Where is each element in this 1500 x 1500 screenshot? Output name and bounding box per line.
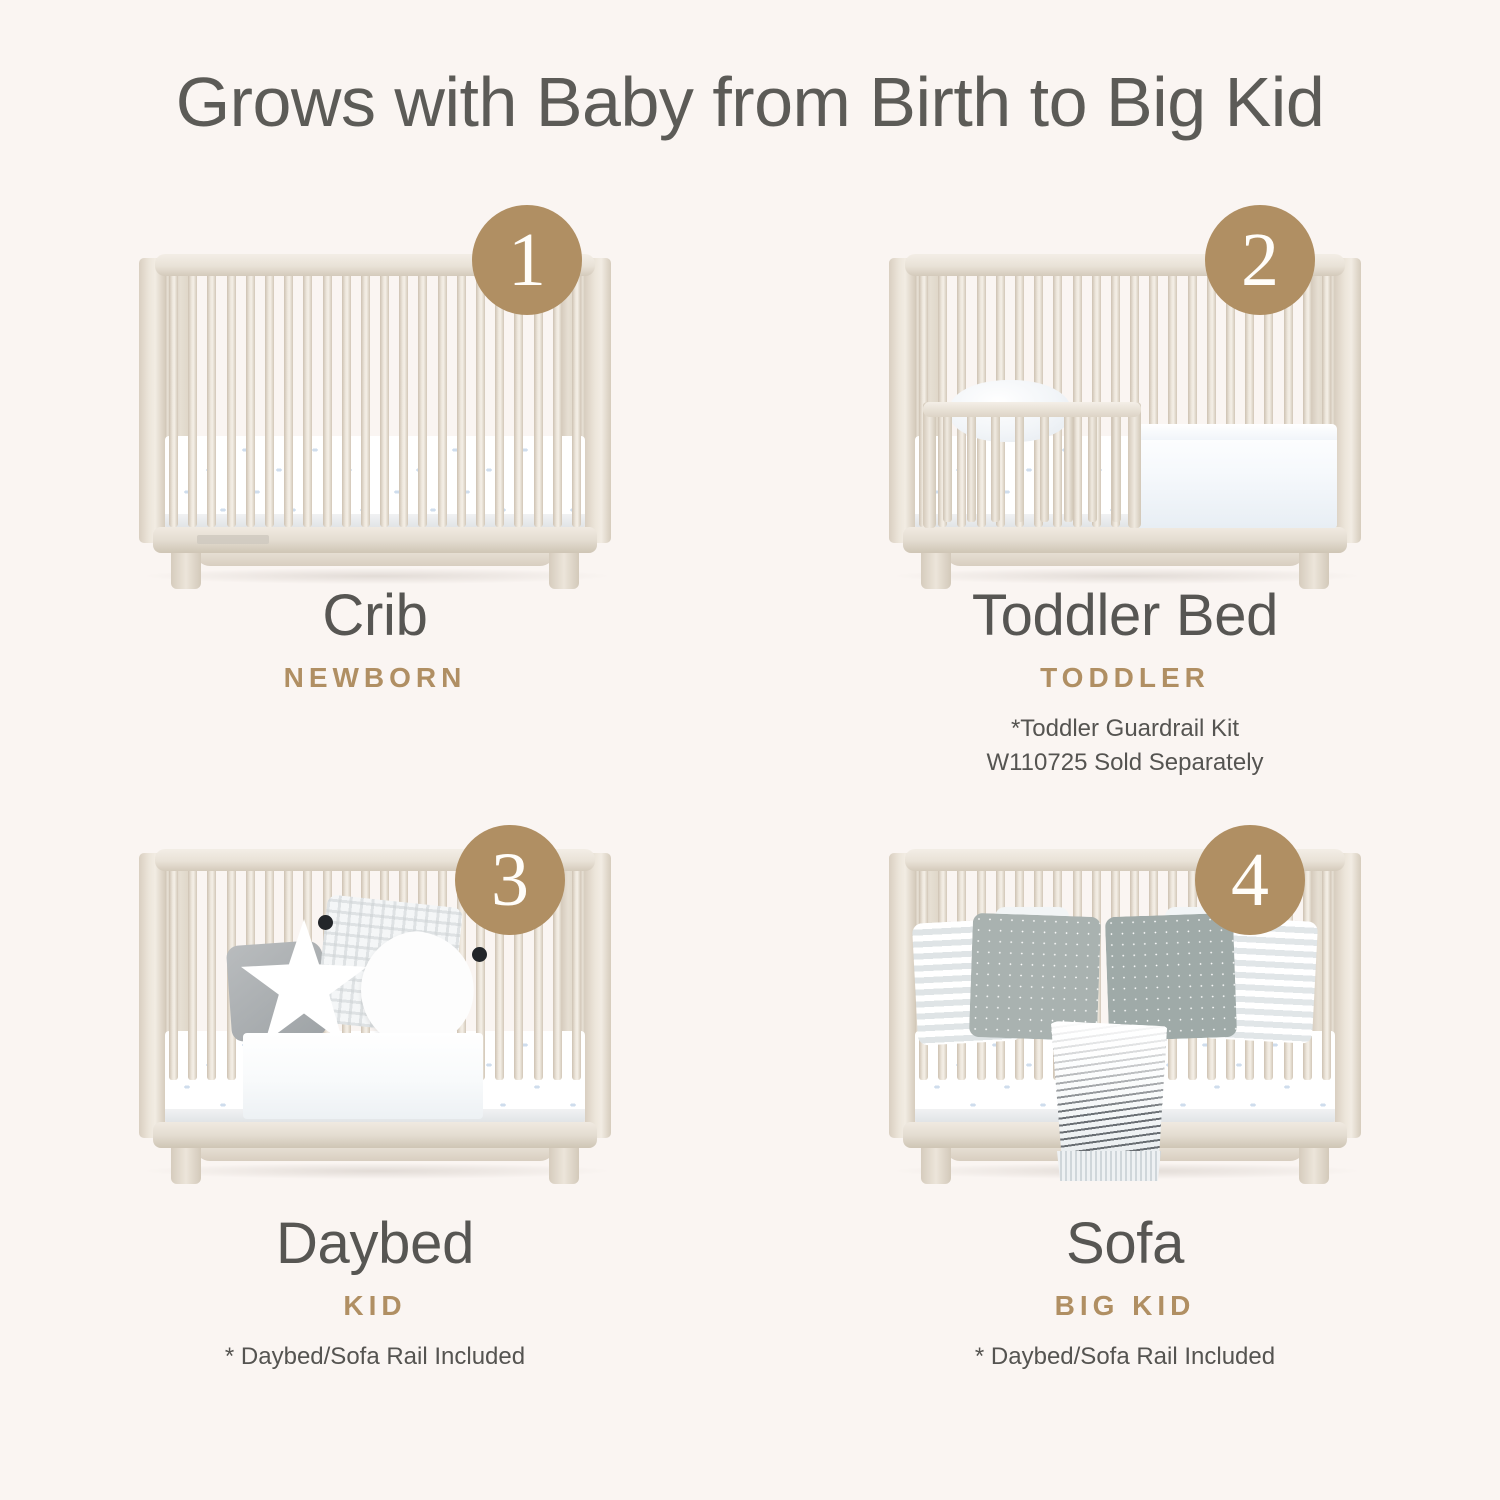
- stage-age-label: NEWBORN: [0, 662, 750, 694]
- stage-title: Sofa: [750, 1213, 1500, 1276]
- throw-blanket: [1043, 1021, 1175, 1181]
- crib-bottom-rail: [903, 527, 1347, 553]
- stage-badge-1: 1: [472, 205, 582, 315]
- stage-panel-daybed[interactable]: 3: [0, 825, 750, 1465]
- stage-note: *Toddler Guardrail Kit W110725 Sold Sepa…: [750, 712, 1500, 780]
- daybed-blanket: [243, 1033, 483, 1119]
- corner-post-right: [585, 258, 611, 543]
- toddler-guardrail: [923, 402, 1141, 528]
- stage-title: Toddler Bed: [750, 585, 1500, 648]
- stage-age-label: KID: [0, 1290, 750, 1322]
- pom-pom-right: [472, 947, 487, 962]
- corner-post-left: [139, 258, 165, 543]
- bed-comforter: [1137, 424, 1337, 528]
- stage-age-label: TODDLER: [750, 662, 1500, 694]
- stage-badge-3: 3: [455, 825, 565, 935]
- blanket-fringe: [1057, 1151, 1161, 1181]
- stage-note: * Daybed/Sofa Rail Included: [0, 1340, 750, 1374]
- stage-badge-4: 4: [1195, 825, 1305, 935]
- stage-badge-2: 2: [1205, 205, 1315, 315]
- page-title: Grows with Baby from Birth to Big Kid: [0, 62, 1500, 142]
- infographic-page: Grows with Baby from Birth to Big Kid 1: [0, 0, 1500, 1500]
- stage-panel-crib[interactable]: 1: [0, 185, 750, 825]
- stage-age-label: BIG KID: [750, 1290, 1500, 1322]
- pom-pom-left: [318, 915, 333, 930]
- caption-daybed: Daybed KID * Daybed/Sofa Rail Included: [0, 1213, 750, 1374]
- stage-note: * Daybed/Sofa Rail Included: [750, 1340, 1500, 1374]
- stage-title: Daybed: [0, 1213, 750, 1276]
- brand-logo-plate: [197, 535, 269, 544]
- moon-pillow: [361, 931, 481, 1049]
- caption-sofa: Sofa BIG KID * Daybed/Sofa Rail Included: [750, 1213, 1500, 1374]
- stage-title: Crib: [0, 585, 750, 648]
- corner-post-left: [889, 258, 915, 543]
- caption-crib: Crib NEWBORN: [0, 585, 750, 694]
- stage-panel-sofa[interactable]: 4: [750, 825, 1500, 1465]
- caption-toddler-bed: Toddler Bed TODDLER *Toddler Guardrail K…: [750, 585, 1500, 780]
- stage-panel-toddler-bed[interactable]: 2: [750, 185, 1500, 825]
- corner-post-right: [1335, 258, 1361, 543]
- conversion-stage-grid: 1: [0, 185, 1500, 1485]
